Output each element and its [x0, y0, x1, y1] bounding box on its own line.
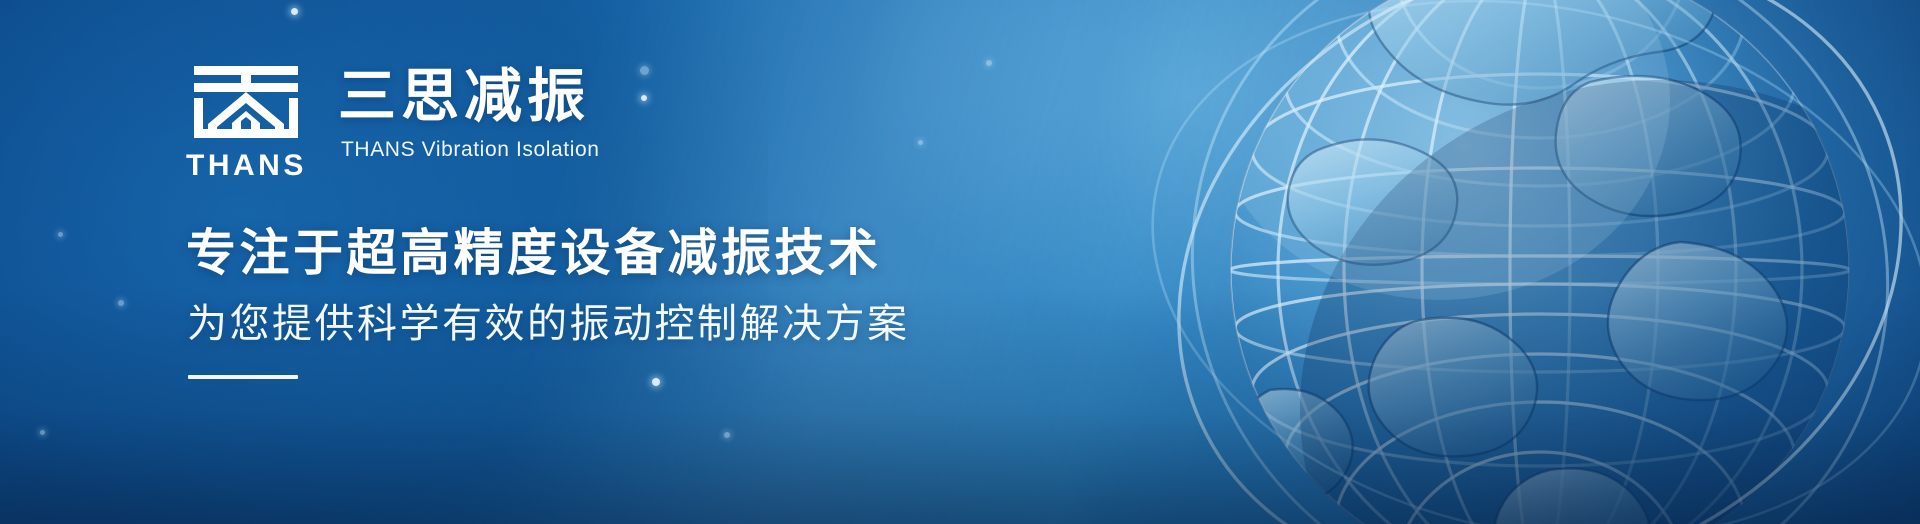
logo-wordmark: THANS [186, 151, 308, 181]
sparkle-particle [118, 300, 124, 306]
sparkle-particle [652, 378, 660, 386]
logo-block[interactable]: THANS [184, 62, 308, 181]
brand-name-cn: 三思减振 [338, 66, 600, 127]
sparkle-particle [724, 432, 730, 438]
sparkle-particle [986, 60, 992, 66]
brand-lockup: THANS 三思减振 THANS Vibration Isolation [184, 62, 910, 181]
banner-headline: 专注于超高精度设备减振技术 [186, 225, 910, 281]
sparkle-particle [291, 8, 298, 15]
thans-gate-logo-icon [192, 64, 300, 140]
banner-content: THANS 三思减振 THANS Vibration Isolation 专注于… [184, 62, 910, 379]
sparkle-particle [40, 430, 45, 435]
banner-subheadline: 为您提供科学有效的振动控制解决方案 [187, 301, 910, 347]
accent-rule [188, 375, 298, 379]
sparkle-particle [918, 140, 923, 145]
brand-name-en: THANS Vibration Isolation [341, 137, 600, 162]
brand-text-block: 三思减振 THANS Vibration Isolation [338, 62, 600, 162]
hero-banner: THANS 三思减振 THANS Vibration Isolation 专注于… [0, 0, 1920, 524]
sparkle-particle [58, 232, 63, 237]
